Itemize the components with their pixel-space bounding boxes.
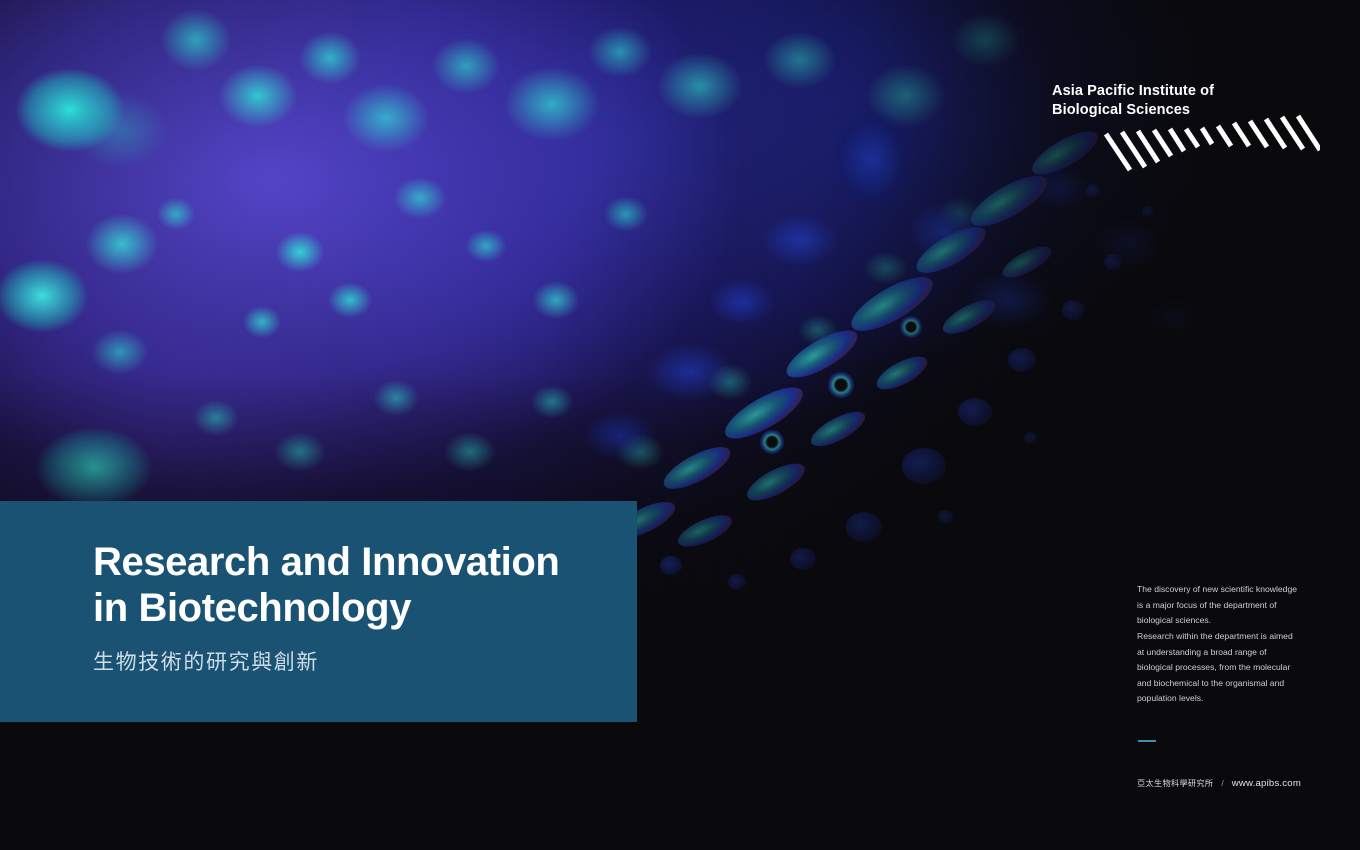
page-subtitle: 生物技術的研究與創新 [93,646,617,676]
footer-url[interactable]: www.apibs.com [1232,778,1301,789]
title-panel: Research and Innovation in Biotechnology… [0,501,637,722]
title-panel-content: Research and Innovation in Biotechnology… [93,539,617,676]
footer-organization-name: 亞太生物科學研究所 [1137,777,1213,789]
page-title: Research and Innovation in Biotechnology [93,539,617,632]
diagonal-slashes-wing-icon [1100,114,1320,174]
institute-logo[interactable]: Asia Pacific Institute of Biological Sci… [1052,82,1312,119]
body-paragraph: The discovery of new scientific knowledg… [1137,582,1299,707]
footer-separator: / [1221,778,1223,788]
poster-canvas: Asia Pacific Institute of Biological Sci… [0,0,1360,850]
footer: 亞太生物科學研究所 / www.apibs.com [1137,777,1301,789]
divider-rule [1138,740,1156,742]
